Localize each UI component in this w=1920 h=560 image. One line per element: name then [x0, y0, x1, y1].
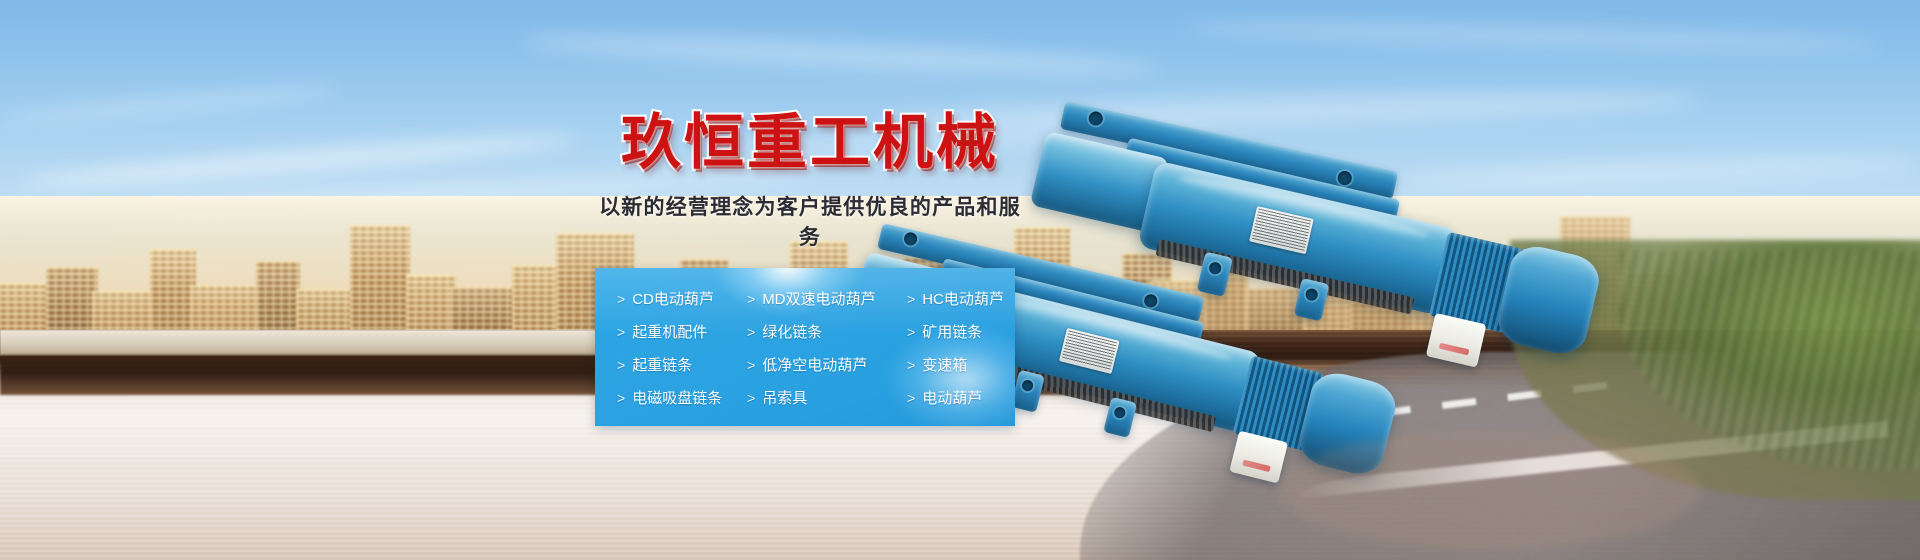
ground-motion-smear — [1280, 430, 1700, 550]
product-link[interactable]: >电磁吸盘链条 — [617, 381, 747, 414]
chevron-right-icon: > — [747, 357, 755, 373]
product-link[interactable]: >起重链条 — [617, 348, 747, 381]
product-link[interactable]: >MD双速电动葫芦 — [747, 282, 907, 315]
chevron-right-icon: > — [617, 324, 625, 340]
product-link[interactable]: >HC电动葫芦 — [907, 282, 1015, 315]
chevron-right-icon: > — [747, 390, 755, 406]
product-links-grid: >CD电动葫芦>MD双速电动葫芦>HC电动葫芦>起重机配件>绿化链条>矿用链条>… — [595, 268, 1015, 414]
chevron-right-icon: > — [747, 324, 755, 340]
product-link-label: 电磁吸盘链条 — [632, 387, 722, 408]
company-slogan: 以新的经营理念为客户提供优良的产品和服务 — [595, 191, 1025, 251]
product-links-panel: >CD电动葫芦>MD双速电动葫芦>HC电动葫芦>起重机配件>绿化链条>矿用链条>… — [595, 268, 1015, 426]
chevron-right-icon: > — [907, 357, 915, 373]
product-link-label: 起重链条 — [632, 354, 692, 375]
product-link[interactable]: >低净空电动葫芦 — [747, 348, 907, 381]
product-link-label: 绿化链条 — [762, 321, 822, 342]
chevron-right-icon: > — [617, 390, 625, 406]
product-link[interactable]: >矿用链条 — [907, 315, 1015, 348]
chevron-right-icon: > — [747, 291, 755, 307]
product-link[interactable]: >吊索具 — [747, 381, 907, 414]
company-title: 玖恒重工机械 — [595, 112, 1025, 175]
product-link-label: MD双速电动葫芦 — [762, 288, 875, 309]
hero-banner: 玖恒重工机械 以新的经营理念为客户提供优良的产品和服务 >CD电动葫芦>MD双速… — [0, 0, 1920, 560]
chevron-right-icon: > — [617, 291, 625, 307]
product-link[interactable]: >电动葫芦 — [907, 381, 1015, 414]
product-link-label: HC电动葫芦 — [922, 288, 1004, 309]
product-link-label: 吊索具 — [762, 387, 807, 408]
banner-copy: 玖恒重工机械 以新的经营理念为客户提供优良的产品和服务 — [595, 112, 1025, 251]
product-link-label: 电动葫芦 — [922, 387, 982, 408]
product-link-label: 低净空电动葫芦 — [762, 354, 867, 375]
product-link-label: 起重机配件 — [632, 321, 707, 342]
chevron-right-icon: > — [617, 357, 625, 373]
product-link-label: 变速箱 — [922, 354, 967, 375]
product-link-label: CD电动葫芦 — [632, 288, 714, 309]
chevron-right-icon: > — [907, 390, 915, 406]
chevron-right-icon: > — [907, 324, 915, 340]
chevron-right-icon: > — [907, 291, 915, 307]
product-link[interactable]: >变速箱 — [907, 348, 1015, 381]
product-link[interactable]: >绿化链条 — [747, 315, 907, 348]
product-link-label: 矿用链条 — [922, 321, 982, 342]
product-link[interactable]: >起重机配件 — [617, 315, 747, 348]
product-link[interactable]: >CD电动葫芦 — [617, 282, 747, 315]
